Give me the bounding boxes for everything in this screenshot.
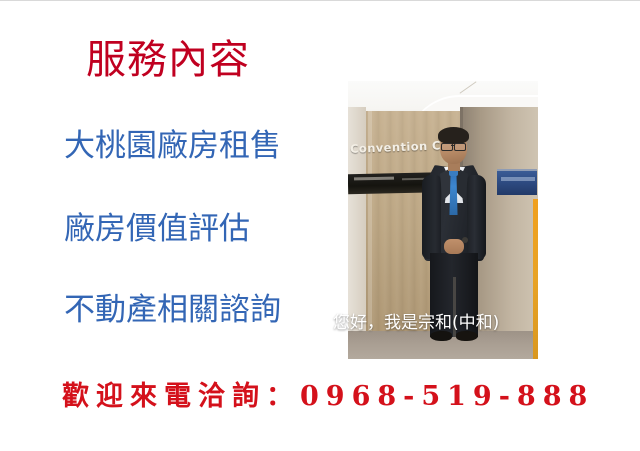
service-item-0: 大桃園廠房租售 bbox=[64, 129, 281, 165]
person-hands bbox=[444, 239, 464, 254]
contact-phone-line: 歡迎來電洽詢：0968-519-888 bbox=[62, 374, 594, 413]
service-item-2: 不動產相關諮詢 bbox=[64, 293, 281, 329]
person-hair bbox=[438, 127, 469, 144]
service-item-1: 廠房價值評估 bbox=[64, 212, 250, 248]
person-wristwatch bbox=[462, 237, 468, 243]
page-title: 服務內容 bbox=[86, 37, 250, 83]
photo-caption: 您好，我是宗和(中和) bbox=[333, 308, 499, 333]
person-glasses-bridge bbox=[451, 145, 455, 146]
slide-canvas: 服務內容 大桃園廠房租售 廠房價值評估 不動產相關諮詢 歡迎來電洽詢：0968-… bbox=[0, 0, 640, 451]
person-arm-right bbox=[467, 175, 486, 259]
person-glasses-right-lens bbox=[454, 143, 466, 151]
person-arm-left bbox=[422, 175, 441, 259]
